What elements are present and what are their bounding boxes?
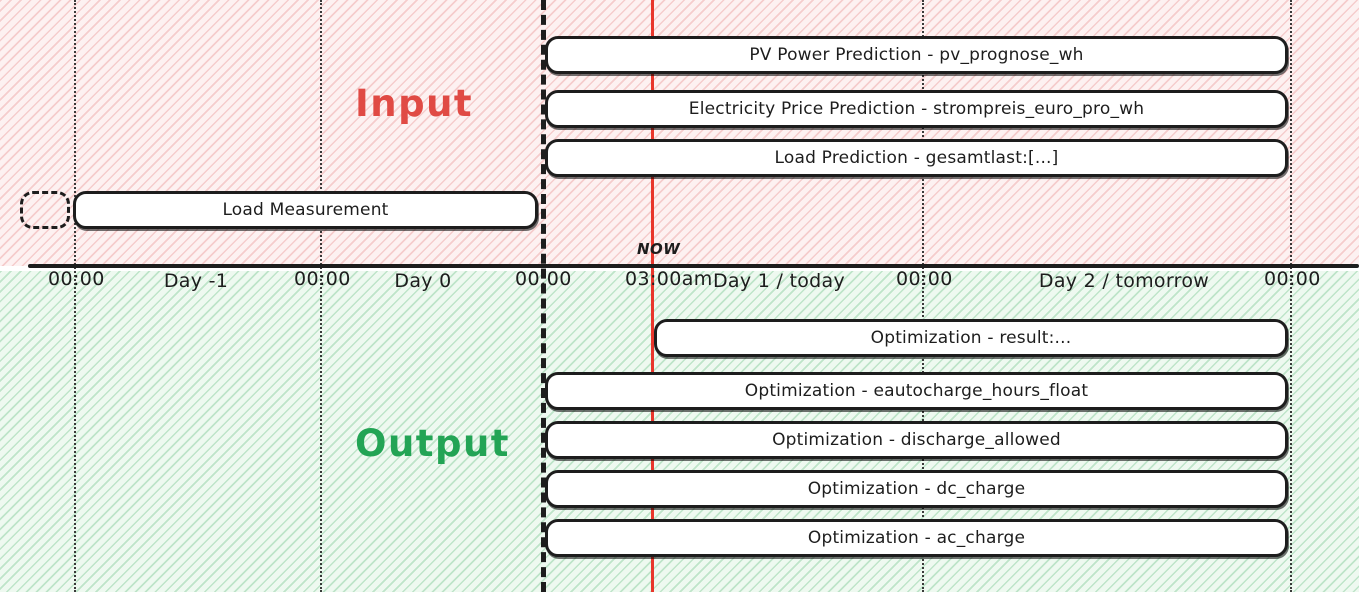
output-bar-optimization-ac-charge[interactable]: Optimization - ac_charge bbox=[545, 519, 1288, 557]
load-measurement-ghost-box bbox=[20, 191, 70, 229]
input-bar-label: Load Measurement bbox=[222, 200, 388, 220]
input-bar-label: Load Prediction - gesamtlast:[...] bbox=[775, 148, 1059, 168]
axis-tick-5-00-00: 00:00 bbox=[1264, 268, 1321, 290]
output-bar-label: Optimization - discharge_allowed bbox=[772, 430, 1061, 450]
gridline-day-minus-1-start bbox=[74, 0, 76, 592]
output-bar-label: Optimization - dc_charge bbox=[808, 479, 1026, 499]
axis-day-label-day-1-today: Day 1 / today bbox=[713, 270, 845, 292]
diagram-canvas: 00:0000:0000:0003:00am00:0000:00Day -1Da… bbox=[0, 0, 1359, 592]
output-bar-label: Optimization - result:... bbox=[871, 328, 1072, 348]
input-bar-load-prediction-gesamtlast[interactable]: Load Prediction - gesamtlast:[...] bbox=[545, 139, 1288, 177]
output-bar-optimization-discharge-allowed[interactable]: Optimization - discharge_allowed bbox=[545, 421, 1288, 459]
input-bar-label: PV Power Prediction - pv_prognose_wh bbox=[749, 45, 1083, 65]
input-bar-pv-power-prediction-pv-prognose-wh[interactable]: PV Power Prediction - pv_prognose_wh bbox=[545, 36, 1288, 74]
now-label: NOW bbox=[637, 240, 680, 258]
axis-tick-1-00-00: 00:00 bbox=[294, 268, 351, 290]
output-bar-optimization-dc-charge[interactable]: Optimization - dc_charge bbox=[545, 470, 1288, 508]
axis-day-label-day-2-tomorrow: Day 2 / tomorrow bbox=[1039, 270, 1209, 292]
gridline-day-1-start bbox=[541, 0, 546, 592]
axis-day-label-day-1: Day -1 bbox=[164, 270, 228, 292]
axis-tick-0-00-00: 00:00 bbox=[48, 268, 105, 290]
gridline-day-0-start bbox=[320, 0, 322, 592]
output-bar-label: Optimization - ac_charge bbox=[808, 528, 1025, 548]
axis-tick-3-03-00am: 03:00am bbox=[625, 268, 713, 290]
input-bar-label: Electricity Price Prediction - stromprei… bbox=[689, 99, 1145, 119]
axis-tick-2-00-00: 00:00 bbox=[515, 268, 572, 290]
output-bar-optimization-result[interactable]: Optimization - result:... bbox=[654, 319, 1288, 357]
axis-day-label-day-0: Day 0 bbox=[394, 270, 451, 292]
axis-tick-4-00-00: 00:00 bbox=[896, 268, 953, 290]
gridline-day-3-start bbox=[1290, 0, 1292, 592]
input-bar-load-measurement[interactable]: Load Measurement bbox=[73, 191, 538, 229]
input-section-title: Input bbox=[355, 82, 473, 125]
output-bar-optimization-eautocharge-hours-float[interactable]: Optimization - eautocharge_hours_float bbox=[545, 372, 1288, 410]
output-section-title: Output bbox=[355, 422, 510, 465]
output-bar-label: Optimization - eautocharge_hours_float bbox=[745, 381, 1088, 401]
input-bar-electricity-price-prediction-strompreis-euro-pro[interactable]: Electricity Price Prediction - stromprei… bbox=[545, 90, 1288, 128]
